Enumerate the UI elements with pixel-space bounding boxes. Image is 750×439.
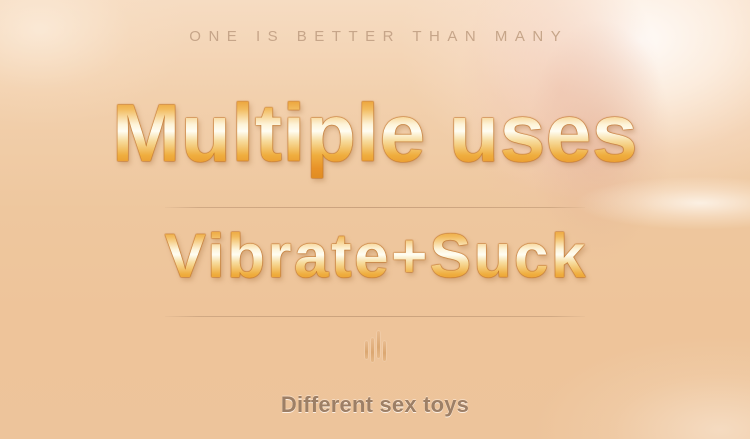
banner-content: ONE IS BETTER THAN MANY Multiple uses Vi… — [0, 0, 750, 439]
headline: Multiple uses — [0, 86, 750, 182]
divider-top — [165, 207, 585, 208]
divider-bottom — [165, 316, 585, 317]
equalizer-waveform-icon — [0, 330, 750, 362]
waveform-bar-1 — [365, 341, 368, 359]
waveform-bar-3 — [377, 331, 380, 358]
tagline: ONE IS BETTER THAN MANY — [0, 28, 750, 45]
caption: Different sex toys — [0, 392, 750, 418]
subheadline: Vibrate+Suck — [0, 218, 750, 296]
promo-banner: ONE IS BETTER THAN MANY Multiple uses Vi… — [0, 0, 750, 439]
waveform-bar-2 — [371, 338, 374, 362]
waveform-bar-4 — [383, 341, 386, 361]
